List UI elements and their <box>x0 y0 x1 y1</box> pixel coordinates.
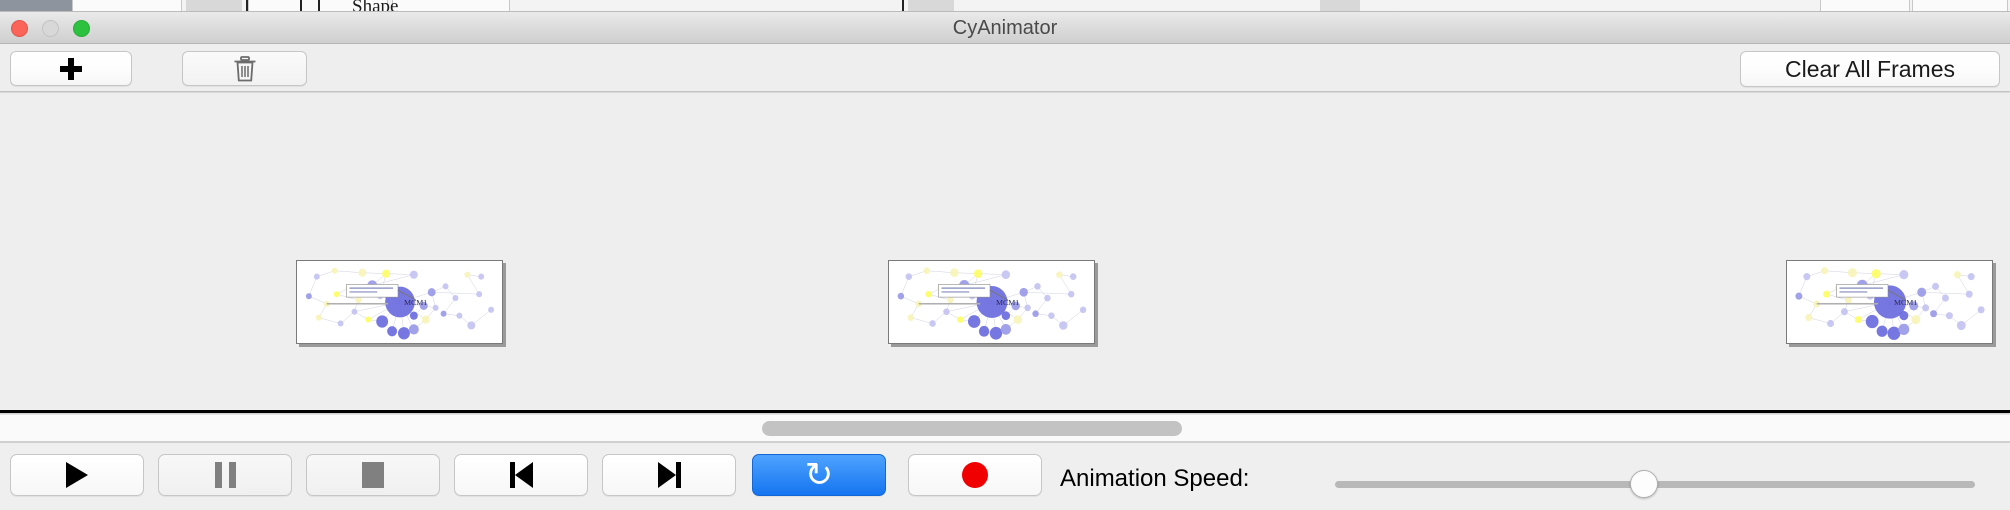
next-frame-button[interactable] <box>602 454 736 496</box>
timeline-top-divider <box>0 92 2010 93</box>
prev-frame-button[interactable] <box>454 454 588 496</box>
svg-text:MCM1: MCM1 <box>996 298 1019 307</box>
skip-forward-icon <box>658 462 681 488</box>
background-window-text: Shape <box>352 0 398 12</box>
background-window: Shape <box>0 0 2010 12</box>
clear-all-frames-label: Clear All Frames <box>1785 56 1955 83</box>
timeline-frame[interactable]: MCM1 <box>888 260 1095 344</box>
window-title: CyAnimator <box>0 17 2010 40</box>
timeline-scrollbar-thumb[interactable] <box>762 421 1182 436</box>
toolbar: Clear All Frames <box>0 44 2010 92</box>
pause-icon <box>215 462 236 488</box>
svg-text:MCM1: MCM1 <box>404 298 427 307</box>
timeline-panel[interactable]: MCM1MCM1MCM1 2131415161718 Seconds <box>0 92 2010 414</box>
stop-icon <box>362 462 384 488</box>
record-button[interactable] <box>908 454 1042 496</box>
play-icon <box>66 462 88 488</box>
trash-icon <box>232 55 258 83</box>
svg-text:MCM1: MCM1 <box>1894 298 1917 307</box>
loop-button[interactable]: ↻ <box>752 454 886 496</box>
plus-icon <box>60 58 82 80</box>
record-icon <box>962 462 988 488</box>
playback-bar: ↻ Animation Speed: <box>0 442 2010 510</box>
timeline-scrollbar[interactable] <box>0 414 2010 442</box>
cyanimator-window: Shape CyAnimator <box>0 0 2010 510</box>
play-button[interactable] <box>10 454 144 496</box>
stop-button[interactable] <box>306 454 440 496</box>
skip-back-icon <box>510 462 533 488</box>
delete-frame-button[interactable] <box>182 51 307 86</box>
add-frame-button[interactable] <box>10 51 132 86</box>
animation-speed-slider-thumb[interactable] <box>1630 470 1658 498</box>
clear-all-frames-button[interactable]: Clear All Frames <box>1740 51 2000 87</box>
timeline-frame[interactable]: MCM1 <box>296 260 503 344</box>
loop-icon: ↻ <box>805 460 834 490</box>
title-bar: CyAnimator <box>0 12 2010 44</box>
timeline-axis <box>0 410 2010 413</box>
animation-speed-label: Animation Speed: <box>1060 465 1249 493</box>
timeline-frame[interactable]: MCM1 <box>1786 260 1993 344</box>
pause-button[interactable] <box>158 454 292 496</box>
